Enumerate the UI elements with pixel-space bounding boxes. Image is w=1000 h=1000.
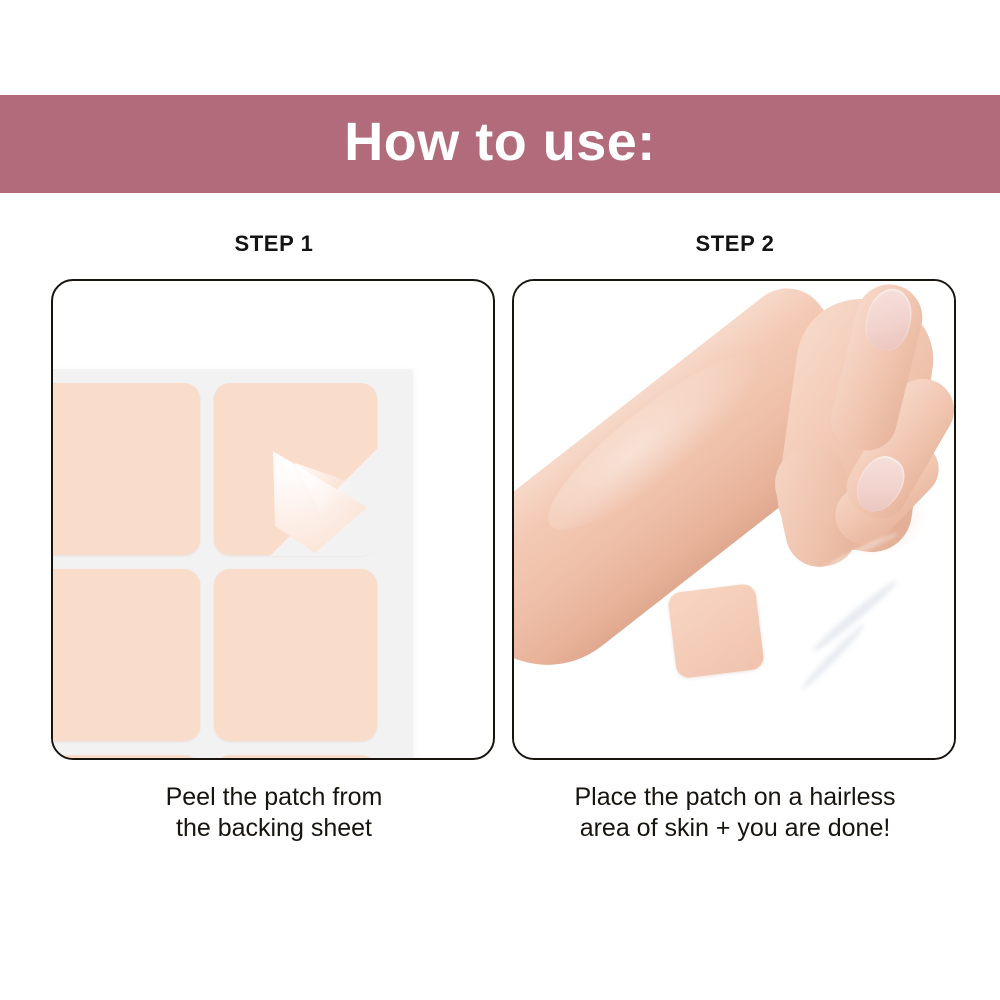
fingernail [860, 284, 918, 355]
patch-grid [51, 383, 377, 760]
step-2-label: STEP 2 [512, 231, 958, 257]
patch-tile [51, 569, 200, 741]
forearm-vein [810, 577, 901, 655]
step-1-caption: Peel the patch from the backing sheet [51, 782, 497, 843]
patch-tile [214, 755, 377, 760]
page-title: How to use: [344, 115, 656, 173]
header-band: How to use: [0, 95, 1000, 193]
step-2-caption-line-1: Place the patch on a hairless [512, 782, 958, 813]
applied-patch [667, 583, 765, 679]
backing-sheet [51, 369, 413, 760]
patch-tile-peeling [214, 383, 377, 555]
arm-illustration [514, 281, 954, 758]
step-1-label: STEP 1 [51, 231, 497, 257]
step-1-caption-line-1: Peel the patch from [51, 782, 497, 813]
step-1-image-card [51, 279, 495, 760]
step-2-caption: Place the patch on a hairless area of sk… [512, 782, 958, 843]
patch-tile [51, 383, 200, 555]
patch-tile [214, 569, 377, 741]
step-1-caption-line-2: the backing sheet [51, 813, 497, 844]
wrist-tendon [805, 566, 869, 606]
step-2-column: STEP 2 [512, 193, 958, 843]
patch-tile [51, 755, 200, 760]
step-1-column: STEP 1 Peel the patch from [51, 193, 497, 843]
step-2-caption-line-2: area of skin + you are done! [512, 813, 958, 844]
step-2-image-card [512, 279, 956, 760]
